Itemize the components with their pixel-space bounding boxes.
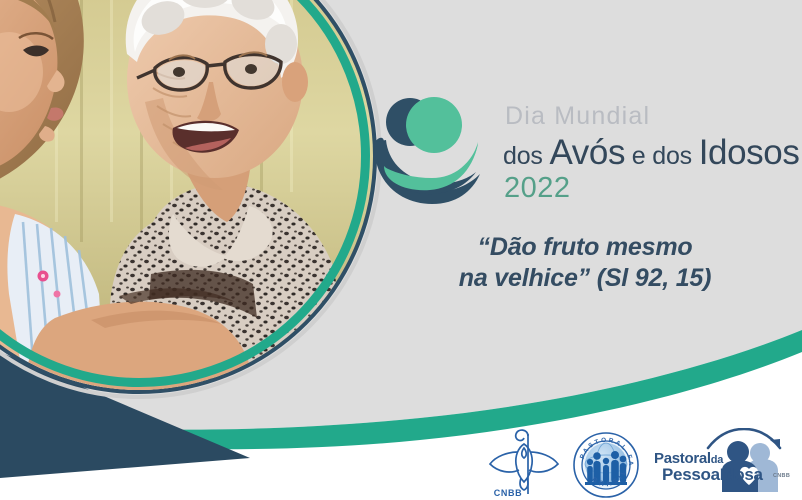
headline-avos: Avós — [549, 133, 625, 172]
partner-logo-strip: CNBB — [484, 424, 796, 498]
headline-line-dia-mundial: Dia Mundial — [505, 104, 799, 129]
ppi-wordmark: Pastoralda PessoaIdosa — [654, 452, 763, 483]
headline-dos-1: dos — [503, 142, 549, 170]
headline-line-main: dos Avós e dos Idosos — [503, 135, 799, 170]
quote-block: “Dão fruto mesmo na velhice” (Sl 92, 15) — [402, 232, 768, 293]
headline-idosos: Idosos — [699, 133, 800, 172]
logo-pastoral-pessoa-idosa: Pastoralda PessoaIdosa CNBB — [652, 428, 796, 498]
logo-cnbb: CNBB — [484, 426, 560, 498]
logo-pastoral-familiar: PASTORAL FAMILIAR BRASIL — [573, 432, 639, 498]
headline-year: 2022 — [504, 174, 799, 203]
poster-root: Dia Mundial dos Avós e dos Idosos 2022 “… — [0, 0, 802, 500]
pastoral-familiar-brasil-seal-icon: PASTORAL FAMILIAR BRASIL — [573, 432, 639, 498]
headline-block: Dia Mundial dos Avós e dos Idosos 2022 — [503, 104, 799, 203]
ppi-line2-b: Idosa — [720, 465, 763, 484]
quote-line-2: na velhice” (Sl 92, 15) — [402, 263, 768, 294]
headline-e-dos: e dos — [625, 142, 699, 170]
ppi-sub-label: CNBB — [773, 473, 790, 479]
quote-line-1: “Dão fruto mesmo — [402, 232, 768, 263]
grandparents-embrace-logo-icon — [372, 92, 484, 208]
cnbb-label: CNBB — [476, 488, 540, 498]
ppi-line2-a: Pessoa — [662, 465, 720, 484]
